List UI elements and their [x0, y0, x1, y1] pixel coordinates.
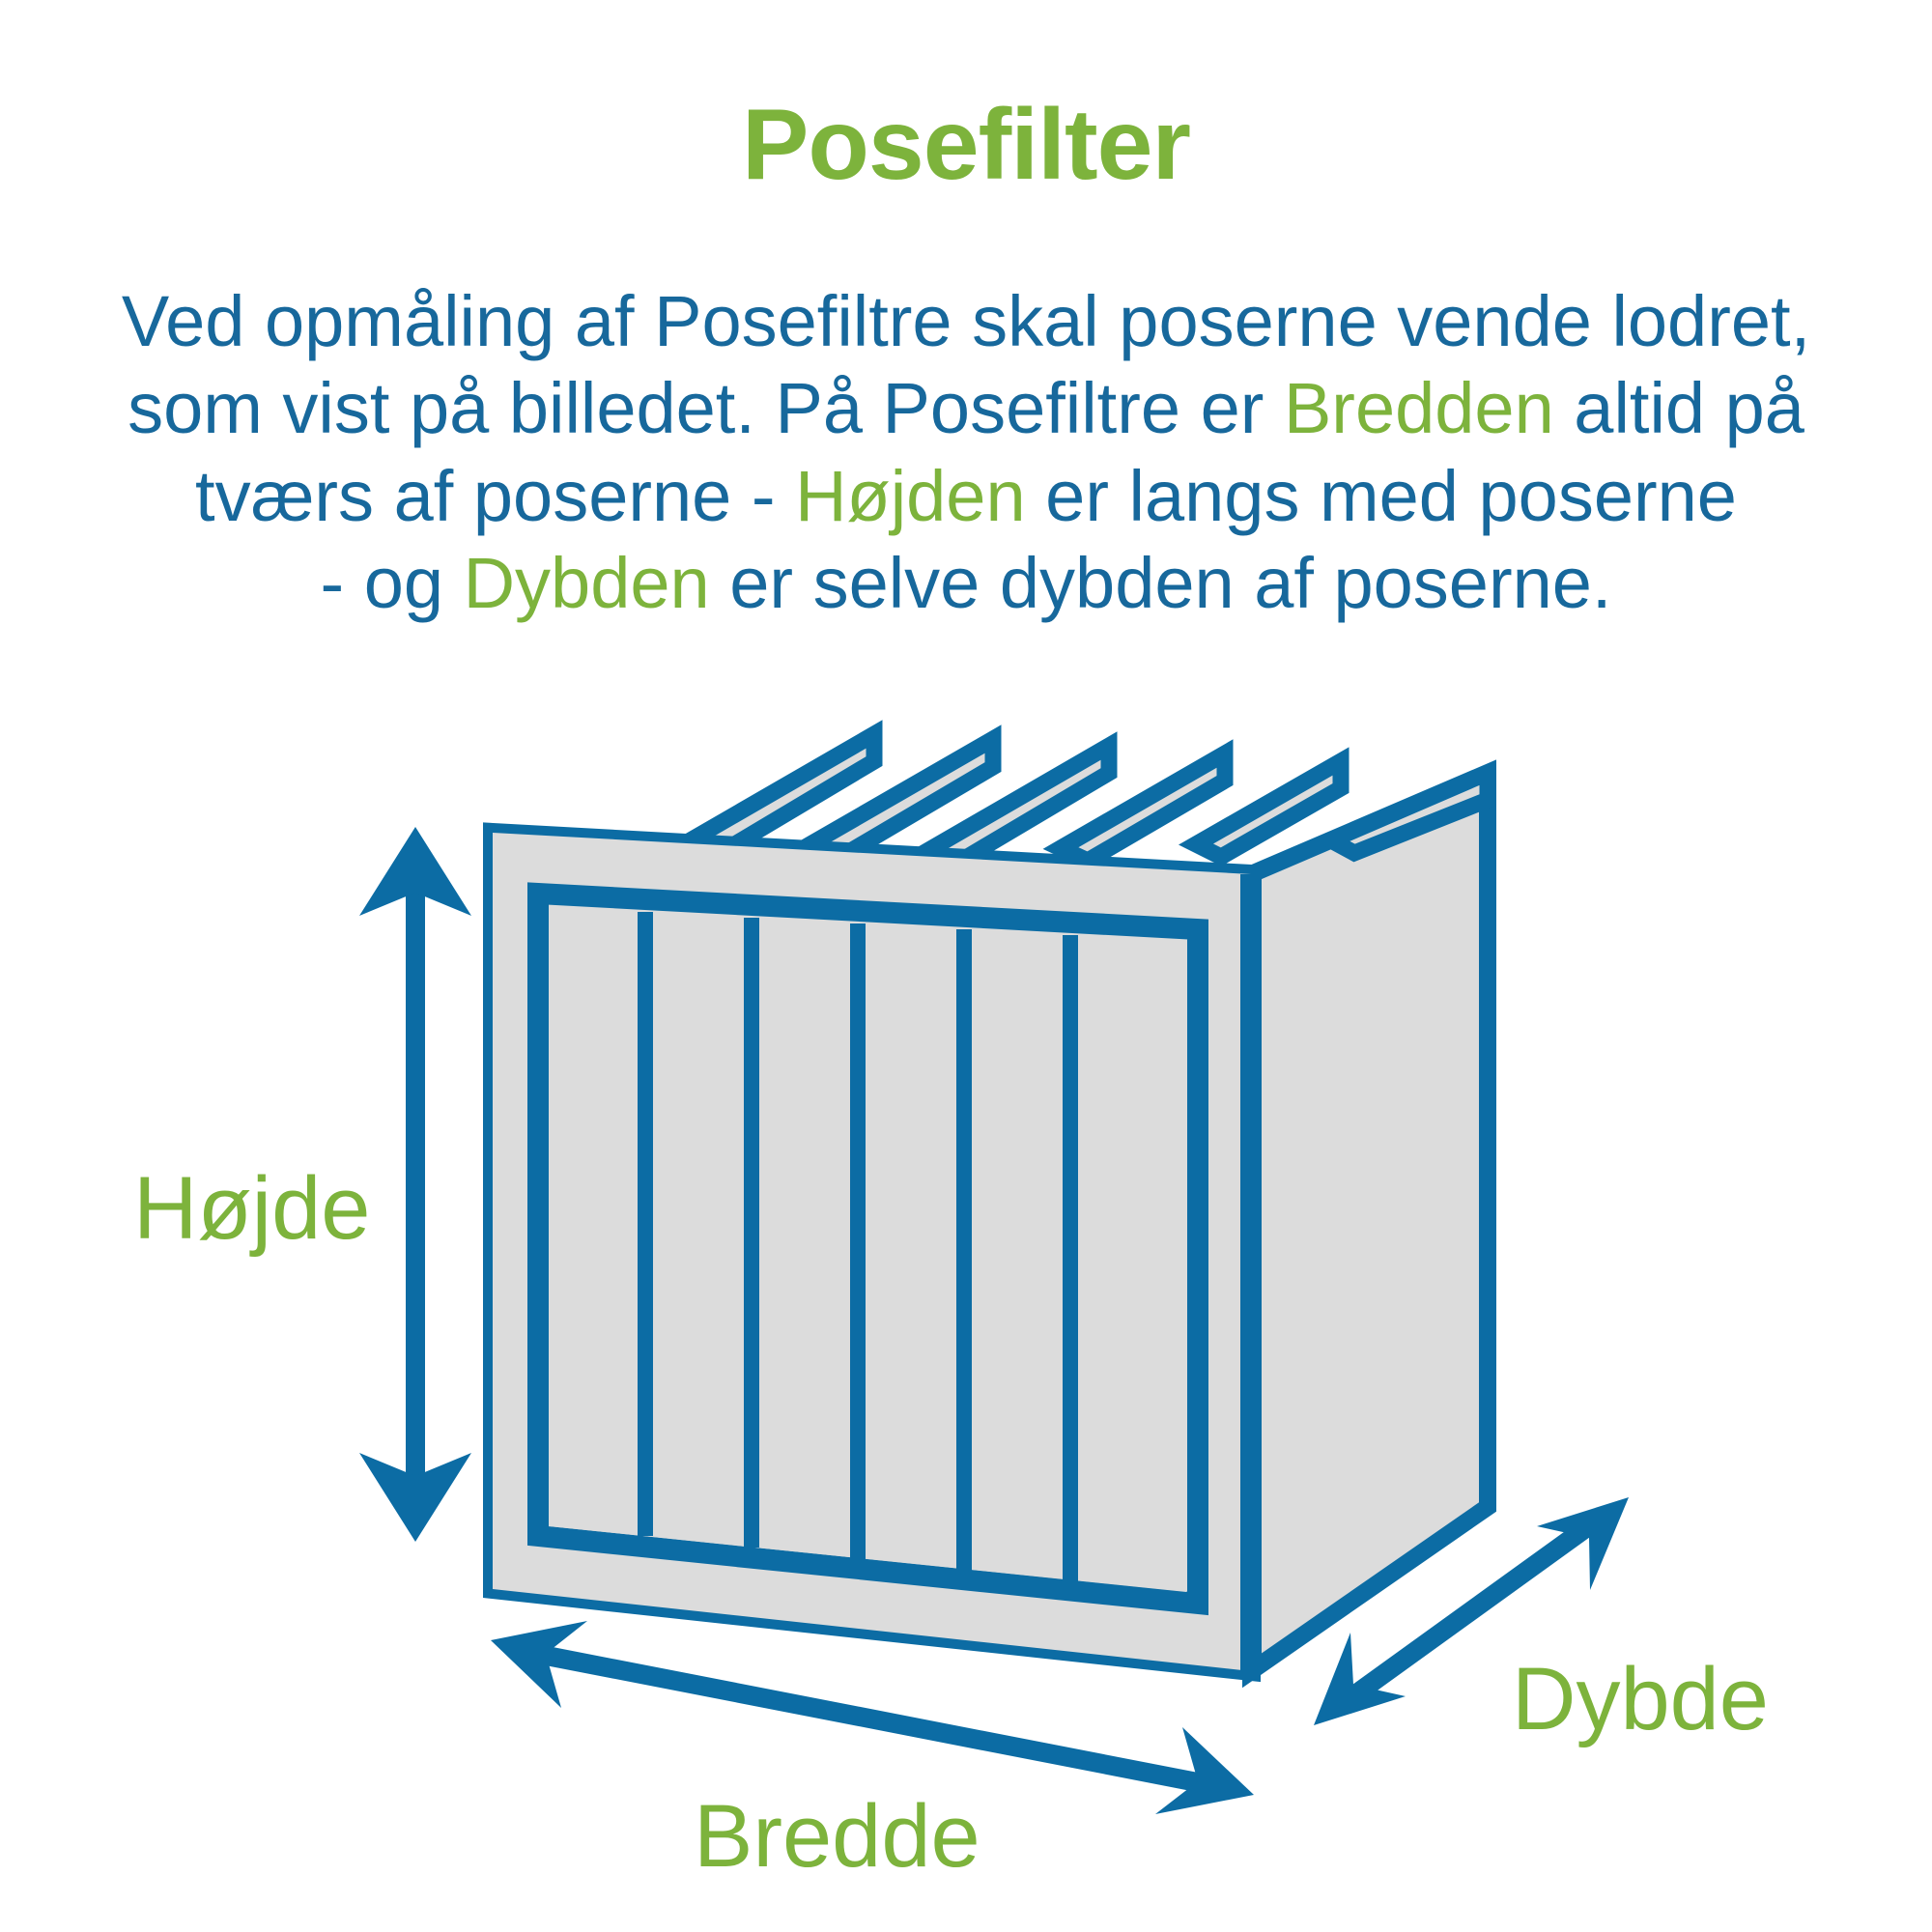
height-arrow-group — [359, 827, 471, 1542]
depth-label: Dybde — [1512, 1650, 1769, 1748]
filter-unit — [493, 734, 1488, 1671]
poster-page: Posefilter Ved opmåling af Posefiltre sk… — [0, 0, 1932, 1932]
bag-filter-diagram: Højde Bredde Dybde — [0, 0, 1932, 1932]
width-arrow-shaft — [522, 1651, 1222, 1787]
width-label: Bredde — [694, 1787, 980, 1886]
height-label: Højde — [133, 1159, 370, 1258]
right-side-panel — [1251, 773, 1488, 1671]
